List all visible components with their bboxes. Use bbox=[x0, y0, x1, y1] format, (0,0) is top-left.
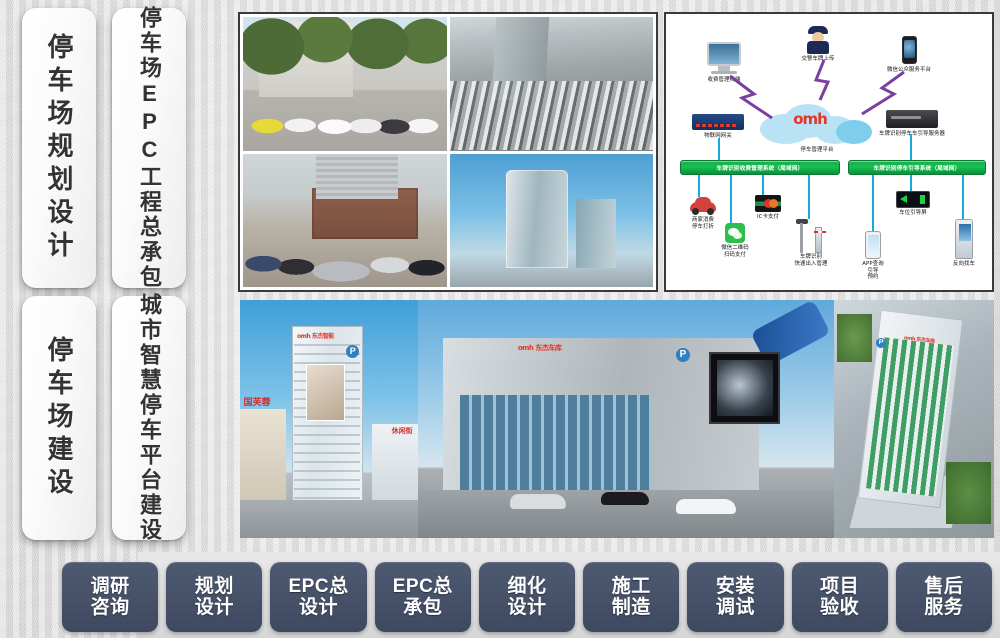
photo-brick-building-lot bbox=[243, 154, 447, 288]
photo-aerial-parking-lot bbox=[450, 17, 654, 151]
photo-street-parking-lot bbox=[243, 17, 447, 151]
photo-glass-tower bbox=[450, 154, 654, 288]
tree-foliage-icon bbox=[243, 17, 447, 151]
step-research[interactable]: 调研 咨询 bbox=[62, 562, 158, 632]
connector-line bbox=[718, 138, 720, 160]
step-acceptance[interactable]: 项目 验收 bbox=[792, 562, 888, 632]
sidebar-card-smart-parking-platform[interactable]: 城市智慧停车平台建设 bbox=[112, 296, 186, 540]
plate-recognition-gate-node: 车牌识别 快速出入管理 bbox=[786, 219, 836, 267]
sidebar-card-label: 停车场EPC工程总承包 bbox=[138, 6, 160, 290]
wechat-qr-pay-node: 微信二维码 扫码支付 bbox=[710, 223, 760, 258]
landscape-greenery bbox=[946, 462, 991, 524]
street-sign-right: 休闲街 bbox=[392, 426, 413, 436]
brand-logo: omh 东杰智能 bbox=[297, 331, 334, 340]
step-detail-design[interactable]: 细化 设计 bbox=[479, 562, 575, 632]
connector-line bbox=[808, 175, 810, 219]
step-label-line1: EPC总 bbox=[393, 576, 453, 597]
kiosk-icon bbox=[955, 219, 973, 259]
step-construction[interactable]: 施工 制造 bbox=[583, 562, 679, 632]
process-step-row: 调研 咨询 规划 设计 EPC总 设计 EPC总 承包 细化 设计 施工 制造 … bbox=[62, 560, 992, 634]
terminal-label: APP查询 引导 预约 bbox=[852, 261, 894, 281]
connector-line bbox=[962, 175, 964, 219]
connector-line bbox=[730, 175, 732, 223]
parked-car bbox=[601, 492, 649, 505]
connector-line bbox=[762, 175, 764, 195]
step-label-line2: 服务 bbox=[924, 597, 963, 618]
plate-recognition-charge-system-bar: 车牌识别收费管理系统（局域网） bbox=[680, 160, 840, 175]
wechat-platform-node: 微信公众服务平台 bbox=[878, 36, 940, 74]
mobile-app-icon bbox=[865, 231, 881, 259]
terminal-label: 微信二维码 扫码支付 bbox=[710, 245, 760, 258]
terminal-label: IC卡支付 bbox=[748, 214, 788, 221]
photo-collage bbox=[238, 12, 658, 292]
render-gallery: omh 东杰智能 P 国芙蓉 休闲街 omh 东杰车库 P omh 东杰车库 P bbox=[240, 300, 994, 538]
connector-line bbox=[910, 134, 912, 160]
render-aerial-tower: omh 东杰车库 P bbox=[834, 300, 994, 538]
glass-facade bbox=[460, 395, 651, 490]
step-label-line2: 制造 bbox=[612, 597, 651, 618]
ground-plane bbox=[240, 500, 418, 538]
step-label-line2: 设计 bbox=[195, 597, 234, 618]
guidance-screen-icon bbox=[896, 191, 930, 208]
step-label-line1: 规划 bbox=[195, 576, 234, 597]
policeman-icon bbox=[806, 26, 830, 54]
wechat-icon bbox=[725, 223, 745, 243]
step-label-line1: 施工 bbox=[612, 576, 651, 597]
omh-logo: omh bbox=[782, 110, 838, 128]
plate-recognition-guidance-system-bar: 车牌识别停车引导系统（局域网） bbox=[848, 160, 986, 175]
highrise-backdrop bbox=[316, 154, 397, 199]
render-parking-tower: omh 东杰智能 P 国芙蓉 休闲街 bbox=[240, 300, 418, 538]
led-billboard bbox=[709, 352, 780, 423]
step-label-line1: 售后 bbox=[924, 576, 963, 597]
brand-logo: omh 东杰车库 bbox=[518, 343, 562, 353]
step-label-line2: 承包 bbox=[403, 597, 442, 618]
step-label-line2: 验收 bbox=[820, 597, 859, 618]
step-label-line1: EPC总 bbox=[289, 576, 349, 597]
connector-line bbox=[872, 175, 874, 231]
step-label-line1: 项目 bbox=[820, 576, 859, 597]
cloud-platform-label: 停车管理平台 bbox=[758, 147, 876, 154]
step-label-line1: 细化 bbox=[507, 576, 546, 597]
sidebar-card-parking-planning-design[interactable]: 停车场规划设计 bbox=[22, 8, 96, 288]
ic-card-pay-node: IC卡支付 bbox=[748, 195, 788, 221]
terminal-label: 车位引导屏 bbox=[892, 210, 934, 217]
page-root: 停车场规划设计 停车场EPC工程总承包 停车场建设 城市智慧停车平台建设 收费管… bbox=[0, 0, 1000, 638]
smartphone-icon bbox=[902, 36, 917, 64]
landscape-greenery bbox=[837, 314, 872, 362]
adjacent-building bbox=[240, 409, 286, 504]
billboard bbox=[306, 364, 345, 421]
sidebar-card-label: 停车场建设 bbox=[46, 336, 72, 501]
red-car-icon bbox=[690, 197, 716, 215]
street-sign-left: 国芙蓉 bbox=[244, 395, 271, 408]
ic-card-icon bbox=[755, 195, 781, 212]
sidebar-card-parking-epc-contract[interactable]: 停车场EPC工程总承包 bbox=[112, 8, 186, 288]
step-label-line2: 咨询 bbox=[91, 597, 130, 618]
terminal-label: 反向找车 bbox=[944, 261, 984, 268]
step-label-line2: 调试 bbox=[716, 597, 755, 618]
step-epc-design[interactable]: EPC总 设计 bbox=[270, 562, 366, 632]
parked-car bbox=[676, 499, 736, 514]
step-after-sales[interactable]: 售后 服务 bbox=[896, 562, 992, 632]
system-bar-label: 车牌识别停车引导系统（局域网） bbox=[874, 164, 961, 172]
sidebar-card-parking-construction[interactable]: 停车场建设 bbox=[22, 296, 96, 540]
reverse-car-finding-node: 反向找车 bbox=[944, 219, 984, 268]
parking-guidance-screen-node: 车位引导屏 bbox=[892, 191, 934, 217]
system-architecture-diagram: 收费管理终端 交警车牌上传 微信公众服务平台 物联网网关 车牌识别停车车引导服务… bbox=[664, 12, 994, 292]
render-garage-building: omh 东杰车库 P bbox=[418, 300, 834, 538]
step-label-line2: 设计 bbox=[507, 597, 546, 618]
connector-line bbox=[910, 175, 912, 191]
sidebar-card-label: 停车场规划设计 bbox=[46, 33, 72, 264]
connector-line bbox=[698, 175, 700, 197]
step-epc-contract[interactable]: EPC总 承包 bbox=[375, 562, 471, 632]
step-label-line2: 设计 bbox=[299, 597, 338, 618]
step-label-line1: 安装 bbox=[716, 576, 755, 597]
terminal-label: 车牌识别 快速出入管理 bbox=[786, 254, 836, 267]
sidebar-card-label: 城市智慧停车平台建设 bbox=[138, 293, 160, 543]
app-query-guidance-node: APP查询 引导 预约 bbox=[852, 231, 894, 281]
step-label-line1: 调研 bbox=[91, 576, 130, 597]
node-label: 车牌识别停车车引导服务器 bbox=[870, 131, 954, 138]
step-installation[interactable]: 安装 调试 bbox=[687, 562, 783, 632]
parking-p-icon: P bbox=[676, 348, 690, 362]
gate-barrier-icon bbox=[796, 219, 826, 253]
parked-car bbox=[510, 494, 566, 509]
system-bar-label: 车牌识别收费管理系统（局域网） bbox=[717, 164, 804, 172]
step-planning-design[interactable]: 规划 设计 bbox=[166, 562, 262, 632]
monitor-icon bbox=[707, 42, 741, 66]
